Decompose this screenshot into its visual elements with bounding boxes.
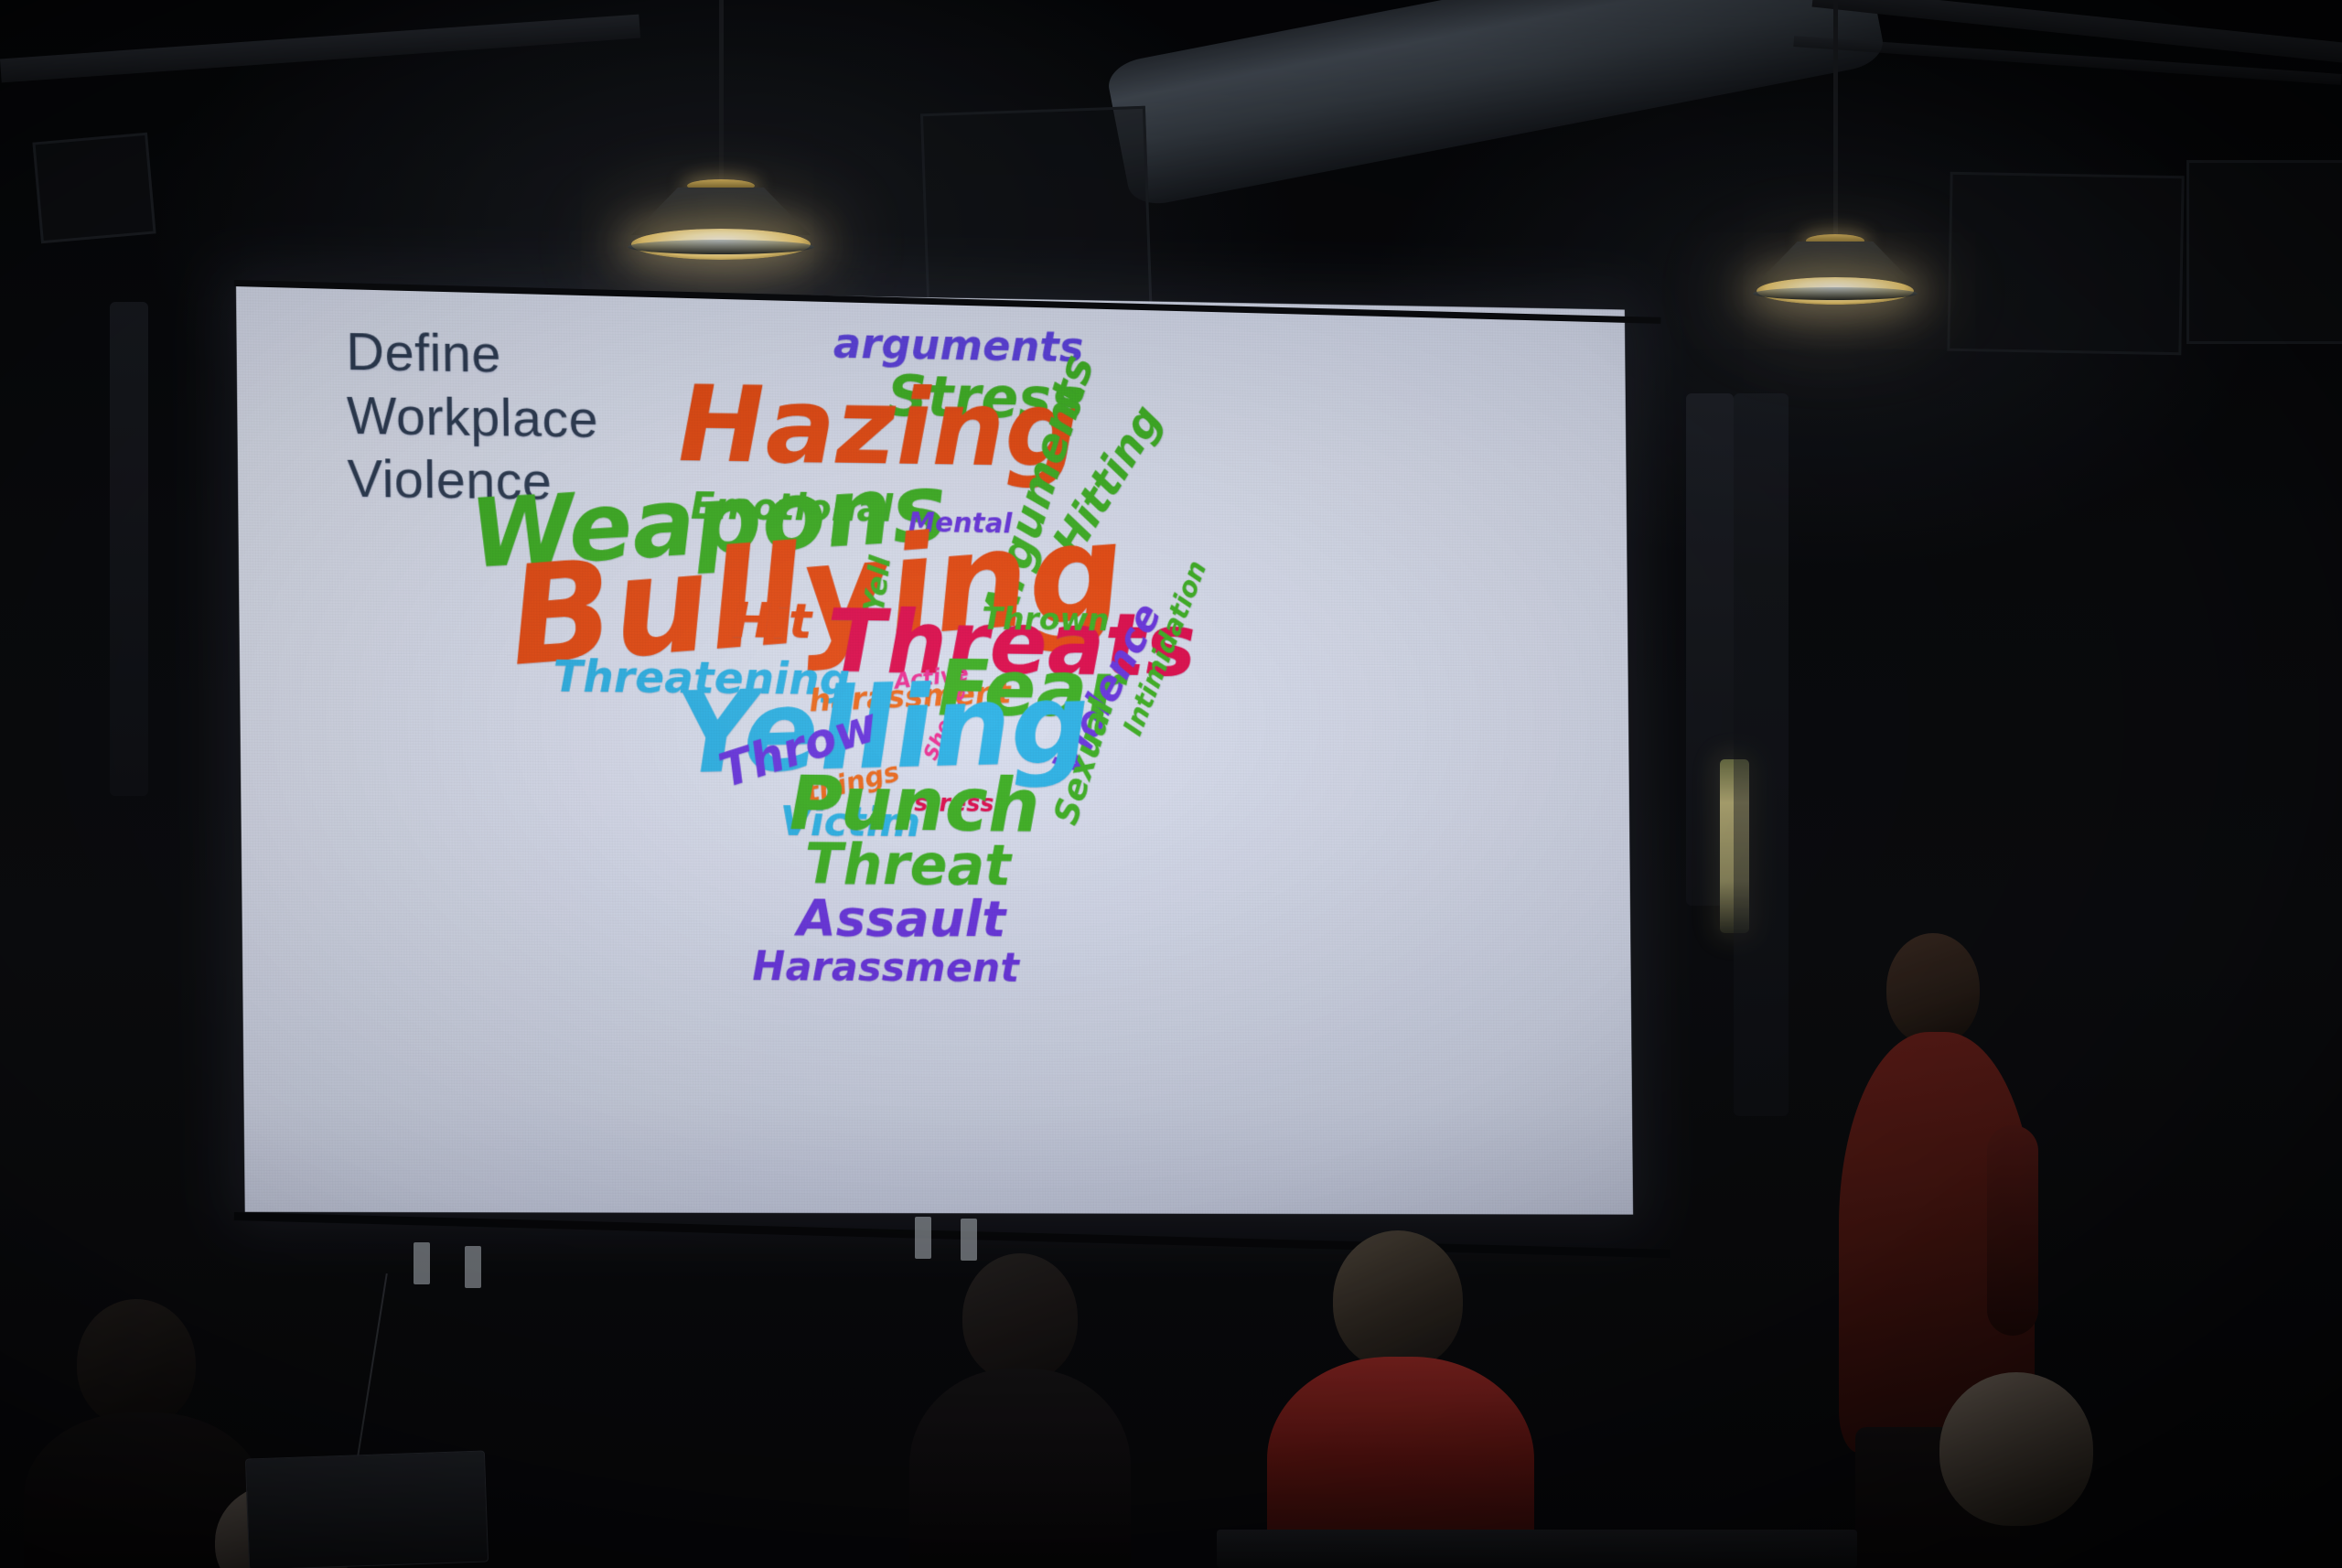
word-cloud-item: Thrown	[982, 604, 1109, 636]
word-cloud-item: Threat	[805, 836, 1012, 894]
audience-torso	[909, 1369, 1131, 1568]
ceiling-beam-left	[0, 15, 640, 83]
ceiling-vent-panel-far-right	[2186, 160, 2342, 344]
ceiling-vent-panel-right	[1947, 172, 2184, 355]
word-cloud-item: Harassment	[752, 947, 1019, 988]
pendant-rim	[1753, 287, 1918, 300]
projected-slide: Define Workplace Violence argumentsStres…	[236, 285, 1633, 1215]
projector-screen: Define Workplace Violence argumentsStres…	[236, 285, 1633, 1215]
conference-room-scene: Define Workplace Violence argumentsStres…	[0, 0, 2342, 1568]
pendant-light-right	[1756, 0, 1914, 238]
wall-outlet-2	[465, 1246, 481, 1288]
wall-column-left	[110, 302, 148, 796]
word-cloud-item: arguments	[833, 322, 1084, 368]
wall-outlet-1	[414, 1242, 430, 1284]
audience-head	[77, 1299, 196, 1427]
word-cloud-item: Assault	[797, 893, 1006, 945]
presenter-arm	[1987, 1125, 2038, 1336]
pendant-light-left	[631, 0, 811, 220]
word-cloud: argumentsStressHazingEmotionalWeaponsMen…	[236, 285, 1633, 1215]
pendant-cord	[719, 0, 724, 179]
audience-head	[1939, 1372, 2093, 1526]
pendant-rim	[628, 240, 814, 254]
audience-head	[962, 1253, 1078, 1381]
audience-member-3	[1885, 1372, 2150, 1568]
ceiling-vent-panel-left	[920, 106, 1153, 329]
word-cloud-item: Hit	[731, 596, 811, 647]
wall-panel-right	[1734, 393, 1789, 1116]
presenter-head	[1886, 933, 1980, 1045]
audience-head	[1333, 1230, 1463, 1369]
audience-member-1	[915, 1253, 1125, 1568]
ceiling-speaker-left	[32, 133, 156, 244]
laptop	[245, 1450, 489, 1568]
pendant-cord	[1833, 0, 1838, 234]
conference-table	[1217, 1530, 1857, 1568]
audience-member-2	[1276, 1230, 1523, 1568]
